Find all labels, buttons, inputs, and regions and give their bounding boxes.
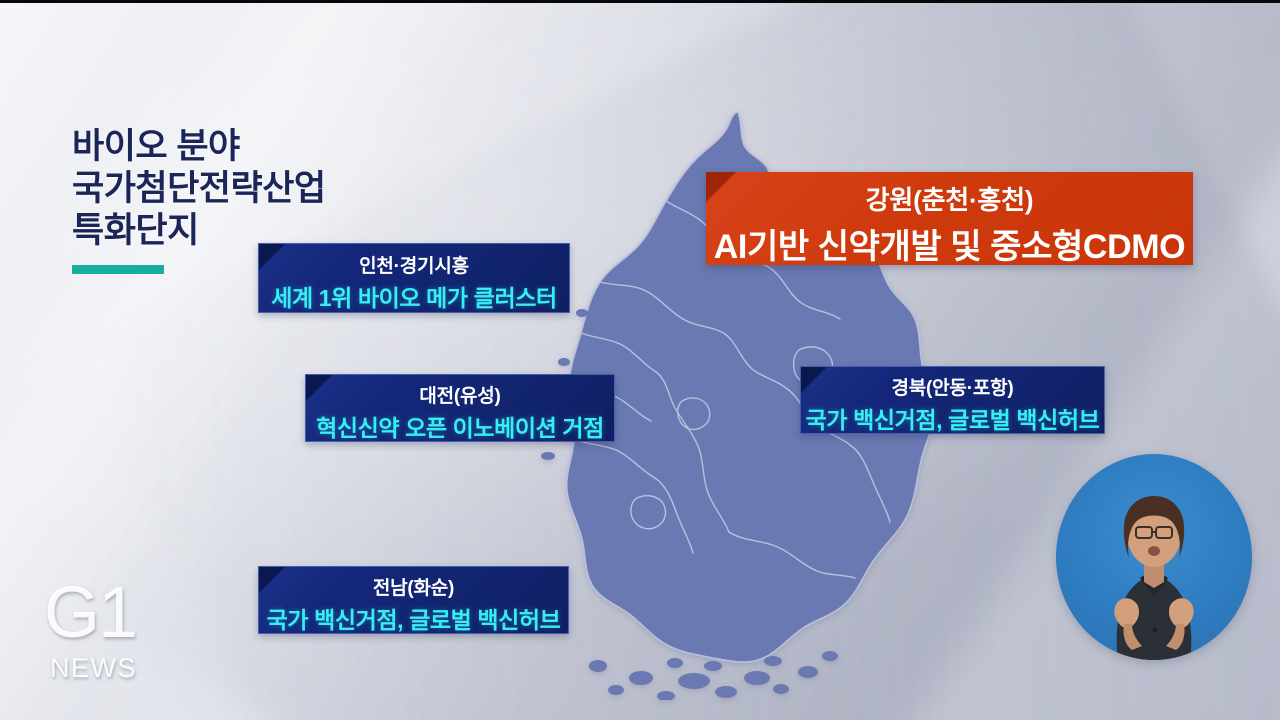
callout-daejeon-region: 대전(유성) — [306, 381, 614, 408]
callout-gyeongbuk-region: 경북(안동·포항) — [801, 373, 1104, 400]
headline-line-2: 국가첨단전략산업 — [72, 168, 492, 210]
callout-jeonnam-region: 전남(화순) — [259, 573, 568, 600]
callout-gyeongbuk-description: 국가 백신거점, 글로벌 백신허브 — [801, 401, 1104, 434]
callout-jeonnam: 전남(화순) 국가 백신거점, 글로벌 백신허브 — [258, 566, 569, 634]
callout-gangwon: 강원(춘천·홍천) AI기반 신약개발 및 중소형CDMO — [706, 172, 1193, 265]
callout-gangwon-region: 강원(춘천·홍천) — [706, 180, 1193, 217]
callout-gyeongbuk: 경북(안동·포항) 국가 백신거점, 글로벌 백신허브 — [800, 366, 1105, 434]
callout-gangwon-description: AI기반 신약개발 및 중소형CDMO — [706, 219, 1193, 265]
sign-language-interpreter-inset — [1056, 454, 1252, 660]
broadcast-graphic-stage: 바이오 분야 국가첨단전략산업 특화단지 인천·경기시흥 세계 1위 바이오 메… — [0, 0, 1280, 720]
channel-logo-subtext: NEWS — [50, 653, 224, 684]
callout-incheon: 인천·경기시흥 세계 1위 바이오 메가 클러스터 — [258, 243, 570, 313]
callout-daejeon: 대전(유성) 혁신신약 오픈 이노베이션 거점 — [305, 374, 615, 442]
headline-accent-rule — [72, 265, 164, 274]
interpreter-mouth — [1148, 546, 1160, 556]
channel-watermark: G1 NEWS — [44, 583, 224, 684]
headline-line-1: 바이오 분야 — [72, 126, 492, 168]
callout-daejeon-description: 혁신신약 오픈 이노베이션 거점 — [306, 409, 614, 442]
callout-jeonnam-description: 국가 백신거점, 글로벌 백신허브 — [259, 601, 568, 634]
callout-incheon-description: 세계 1위 바이오 메가 클러스터 — [259, 279, 569, 313]
channel-logo-text: G1 — [44, 583, 224, 645]
interpreter-button — [1153, 628, 1158, 633]
letterbox-bar-top — [0, 0, 1280, 3]
callout-incheon-region: 인천·경기시흥 — [259, 251, 569, 278]
